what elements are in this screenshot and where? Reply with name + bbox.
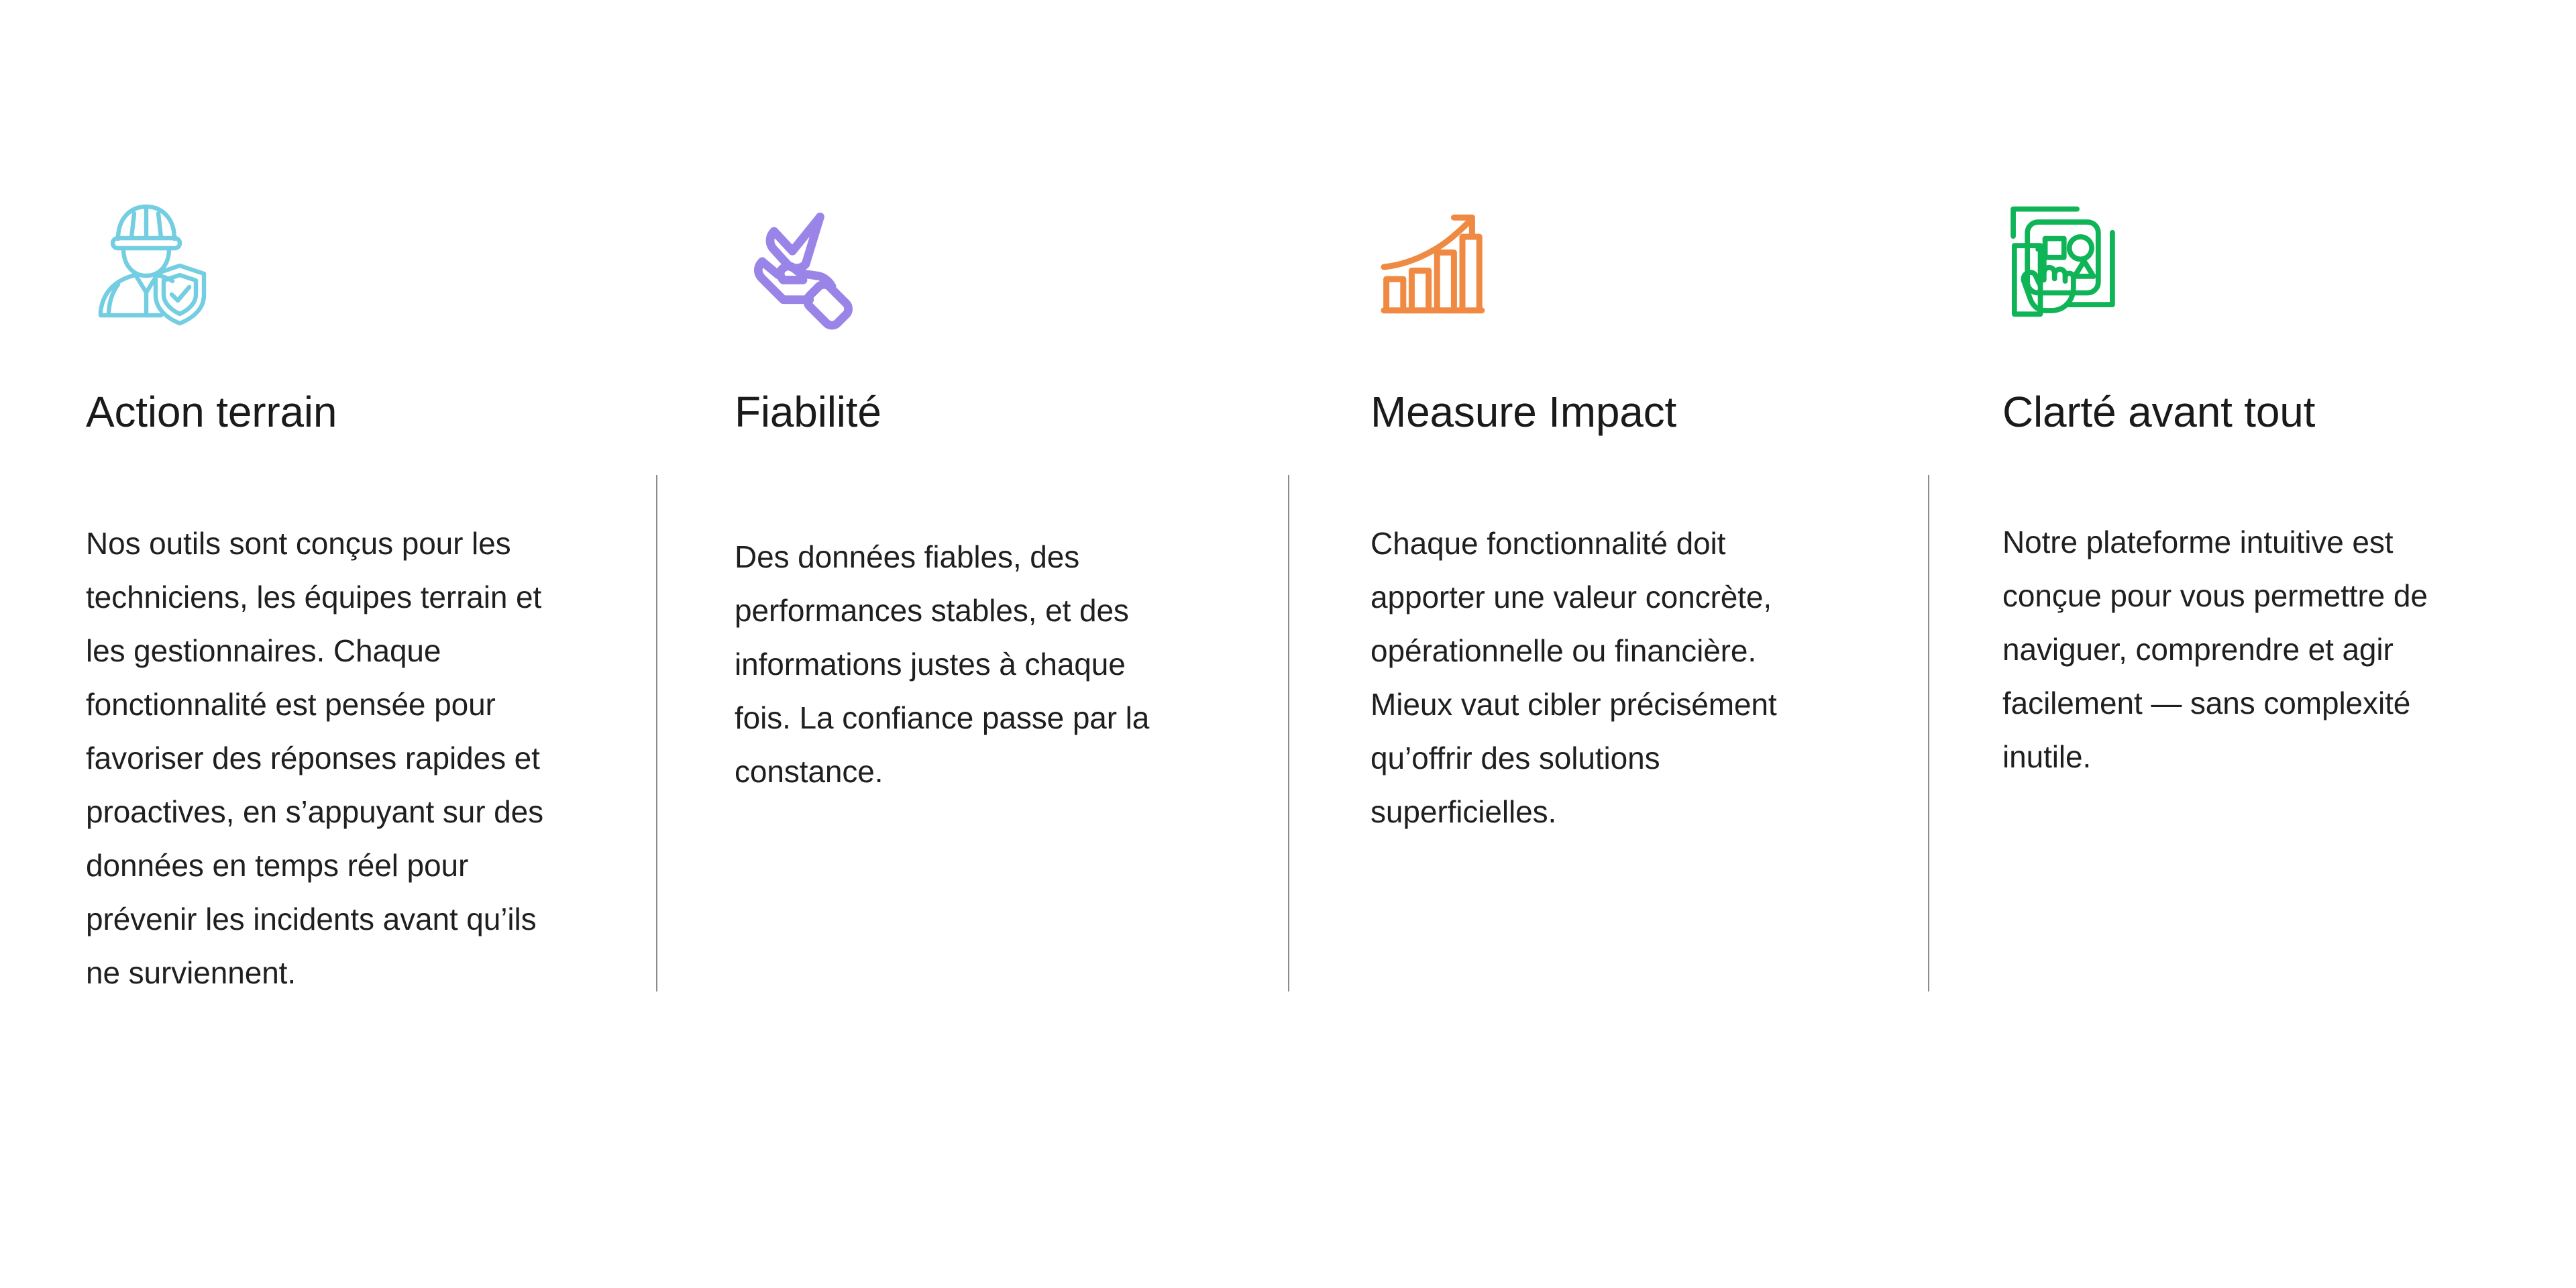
feature-body: Chaque fonctionnalité doit apporter une … xyxy=(1371,517,1827,839)
feature-title: Action terrain xyxy=(86,388,337,437)
feature-column-fiabilite: Fiabilité Des données fiables, des perfo… xyxy=(735,0,1204,1288)
feature-title: Fiabilité xyxy=(735,388,881,437)
growth-chart-arrow-icon xyxy=(1372,195,1493,315)
interface-touch-shapes-icon xyxy=(2004,197,2122,315)
divider-between-col3-col4 xyxy=(1928,475,1929,991)
feature-grid: Action terrain Nos outils sont conçus po… xyxy=(0,0,2576,1288)
feature-column-action-terrain: Action terrain Nos outils sont conçus po… xyxy=(86,0,582,1288)
hand-checkmark-icon xyxy=(737,193,869,325)
feature-column-clarte-avant-tout: Clarté avant tout Notre plateforme intui… xyxy=(2002,0,2492,1288)
divider-between-col1-col2 xyxy=(656,475,657,991)
divider-between-col2-col3 xyxy=(1288,475,1289,991)
feature-body: Nos outils sont conçus pour les technici… xyxy=(86,517,555,1000)
feature-title: Clarté avant tout xyxy=(2002,388,2315,437)
feature-body: Notre plateforme intuitive est conçue po… xyxy=(2002,515,2472,784)
feature-body: Des données fiables, des performances st… xyxy=(735,530,1164,798)
worker-safety-icon xyxy=(86,191,220,325)
feature-column-measure-impact: Measure Impact Chaque fonctionnalité doi… xyxy=(1371,0,1860,1288)
feature-title: Measure Impact xyxy=(1371,388,1676,437)
